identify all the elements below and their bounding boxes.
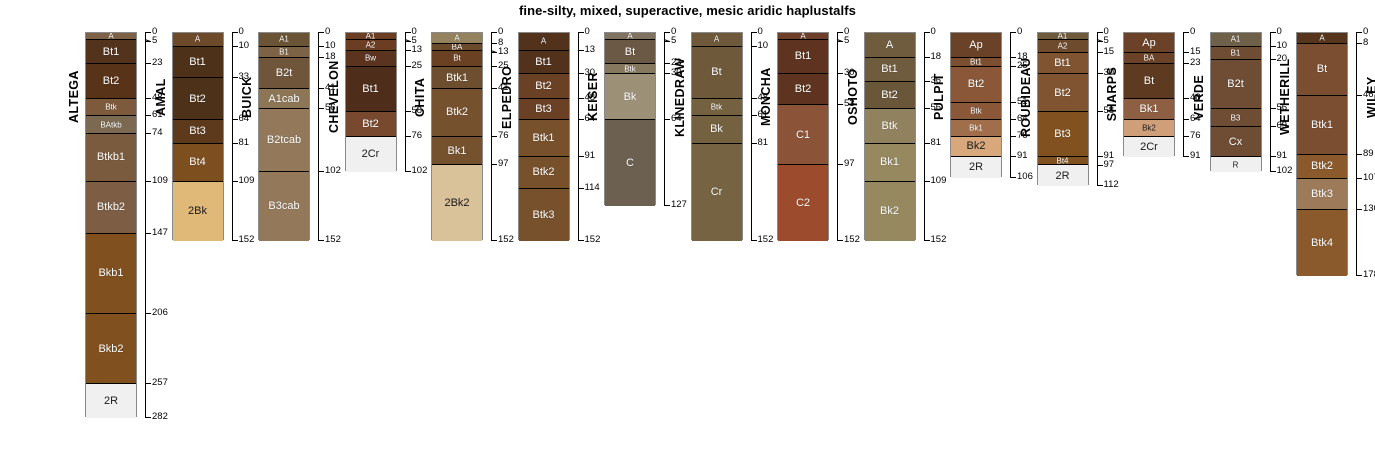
horizon-label: B2tcab xyxy=(259,134,309,146)
depth-tick xyxy=(405,32,411,33)
horizon-label: A xyxy=(86,33,136,40)
depth-tick-label: 257 xyxy=(152,378,168,388)
depth-tick xyxy=(578,50,584,51)
horizon-bk2: Bk2 xyxy=(951,137,1001,157)
depth-tick xyxy=(232,77,238,78)
depth-tick xyxy=(1270,32,1276,33)
profile-name-label: ROUBIDEAU xyxy=(1019,32,1033,162)
depth-tick xyxy=(145,115,151,116)
horizon-label: Bt4 xyxy=(1038,157,1088,165)
horizon-bt2: Bt2 xyxy=(173,78,223,120)
depth-axis xyxy=(837,32,838,240)
depth-axis xyxy=(751,32,752,240)
horizon-label: Bt1 xyxy=(173,56,223,68)
depth-tick-label: 102 xyxy=(1277,166,1293,176)
profile-column: A1A2Bt1Bt2Bt3Bt42R xyxy=(1037,32,1089,185)
depth-tick xyxy=(1270,46,1276,47)
horizon-label: B1 xyxy=(259,47,309,56)
horizon-label: Bt2 xyxy=(1038,87,1088,99)
depth-axis xyxy=(405,32,406,171)
profile-name-label: WETHERILL xyxy=(1278,32,1292,162)
horizon-2cr: 2Cr xyxy=(346,137,396,172)
depth-tick xyxy=(1097,111,1103,112)
horizon-label: Btk1 xyxy=(1297,119,1347,131)
horizon-2bk2: 2Bk2 xyxy=(432,165,482,240)
depth-tick xyxy=(1183,156,1189,157)
horizon-bt1: Bt1 xyxy=(86,40,136,65)
horizon-label: Bk2 xyxy=(865,205,915,217)
depth-tick xyxy=(318,240,324,241)
depth-tick xyxy=(1183,119,1189,120)
horizon-btk1: Btk1 xyxy=(1297,96,1347,155)
horizon-c1: C1 xyxy=(778,105,828,165)
horizon-label: Bk2 xyxy=(1124,124,1174,133)
depth-tick xyxy=(1097,32,1103,33)
horizon-bk2: Bk2 xyxy=(1124,120,1174,136)
depth-tick xyxy=(1097,156,1103,157)
depth-tick-label: 152 xyxy=(585,235,601,245)
horizon-cx: Cx xyxy=(1211,127,1261,157)
horizon-label: Bkb2 xyxy=(86,343,136,355)
horizon-label: Bt xyxy=(1297,63,1347,75)
horizon-label: 2R xyxy=(951,161,1001,173)
horizon-label: A xyxy=(605,33,655,40)
depth-tick-label: 127 xyxy=(671,200,687,210)
horizon-label: 2Cr xyxy=(346,148,396,160)
horizon-b3cab: B3cab xyxy=(259,172,309,240)
depth-tick xyxy=(664,32,670,33)
horizon-bt2: Bt2 xyxy=(778,74,828,105)
depth-tick xyxy=(1356,209,1362,210)
depth-tick xyxy=(491,66,497,67)
horizon-label: A1 xyxy=(1038,33,1088,40)
depth-tick xyxy=(318,171,324,172)
horizon-bt4: Bt4 xyxy=(1038,157,1088,165)
depth-tick-label: 130 xyxy=(1363,204,1375,214)
horizon-label: Bt4 xyxy=(173,156,223,168)
depth-tick xyxy=(318,32,324,33)
horizon-bt1: Bt1 xyxy=(346,67,396,112)
profile-column: ABt1Bt2BtkBk1Bk2 xyxy=(864,32,916,240)
depth-tick xyxy=(924,57,930,58)
depth-tick xyxy=(837,164,843,165)
depth-axis xyxy=(1097,32,1098,185)
horizon-label: Bt2 xyxy=(173,93,223,105)
horizon-label: Bk2 xyxy=(951,140,1001,152)
horizon-label: Bk1 xyxy=(951,124,1001,133)
depth-tick xyxy=(145,133,151,134)
profile-column: ABtBtkBkC xyxy=(604,32,656,205)
depth-tick xyxy=(1183,32,1189,33)
horizon-label: A1 xyxy=(346,33,396,40)
profile-column: ApBABtBk1Bk22Cr xyxy=(1123,32,1175,156)
horizon-bt1: Bt1 xyxy=(865,58,915,83)
profile-column: ABt1Bt2Bt3Btk1Btk2Btk3 xyxy=(518,32,570,240)
horizon-c2: C2 xyxy=(778,165,828,240)
profile-name-label: VERDE xyxy=(1192,32,1206,162)
depth-tick-label: 152 xyxy=(931,235,947,245)
horizon-label: Bt xyxy=(692,66,742,78)
horizon-label: Bk xyxy=(692,123,742,135)
horizon-label: Btk1 xyxy=(519,132,569,144)
horizon-bt1: Bt1 xyxy=(1038,53,1088,73)
soil-profile-plot: ALTEGAABt1Bt2BtkBAtkbBtkb1Btkb2Bkb1Bkb22… xyxy=(0,0,1375,450)
horizon-bt2: Bt2 xyxy=(1038,74,1088,112)
depth-tick xyxy=(751,98,757,99)
horizon-label: Btk3 xyxy=(519,209,569,221)
depth-tick-label: 147 xyxy=(152,228,168,238)
depth-tick-label: 109 xyxy=(239,176,255,186)
horizon-btk1: Btk1 xyxy=(432,67,482,89)
profile-name-label: PULPIT xyxy=(932,32,946,162)
depth-tick-label: 152 xyxy=(758,235,774,245)
depth-tick xyxy=(1183,63,1189,64)
horizon-btk1: Btk1 xyxy=(519,120,569,157)
depth-tick xyxy=(1270,126,1276,127)
horizon-btk2: Btk2 xyxy=(432,89,482,137)
horizon-bk1: Bk1 xyxy=(432,137,482,166)
horizon-label: Bt3 xyxy=(519,103,569,115)
depth-axis xyxy=(232,32,233,240)
horizon-btk2: Btk2 xyxy=(1297,155,1347,180)
depth-tick xyxy=(924,181,930,182)
horizon-bt2: Bt2 xyxy=(865,82,915,109)
horizon-label: Bt3 xyxy=(173,125,223,137)
profile-column: ApBt1Bt2BtkBk1Bk22R xyxy=(950,32,1002,177)
horizon-c: C xyxy=(605,120,655,206)
horizon-bkb1: Bkb1 xyxy=(86,234,136,315)
profile-column: ABABtBtk1Btk2Bk12Bk2 xyxy=(431,32,483,240)
depth-tick-label: 152 xyxy=(239,235,255,245)
horizon-bt: Bt xyxy=(692,47,742,99)
horizon-label: A xyxy=(519,37,569,46)
horizon-label: B3 xyxy=(1211,113,1261,122)
depth-tick xyxy=(924,108,930,109)
horizon-label: Bt2 xyxy=(346,118,396,130)
horizon-a: A xyxy=(432,33,482,44)
horizon-label: Btk1 xyxy=(432,72,482,84)
depth-tick xyxy=(1097,73,1103,74)
horizon-label: Ap xyxy=(951,39,1001,51)
horizon-label: BA xyxy=(1124,54,1174,63)
horizon-label: B3cab xyxy=(259,200,309,212)
depth-axis xyxy=(1183,32,1184,156)
depth-tick-label: 152 xyxy=(325,235,341,245)
depth-tick-label: 178 xyxy=(1363,270,1375,280)
depth-tick xyxy=(837,240,843,241)
depth-tick xyxy=(1010,57,1016,58)
horizon-bt4: Bt4 xyxy=(173,144,223,182)
depth-tick xyxy=(491,32,497,33)
horizon-label: Bkb1 xyxy=(86,267,136,279)
horizon-btk: Btk xyxy=(951,103,1001,121)
horizon-label: Bt3 xyxy=(1038,128,1088,140)
horizon-ap: Ap xyxy=(951,33,1001,58)
profile-name-label: ALTEGA xyxy=(67,32,81,162)
depth-axis xyxy=(145,32,146,417)
profile-name-label: CHEVELON xyxy=(327,32,341,162)
depth-axis xyxy=(578,32,579,240)
horizon-btk: Btk xyxy=(865,109,915,143)
profile-name-label: AMAL xyxy=(154,32,168,162)
horizon-label: Btkb2 xyxy=(86,201,136,213)
horizon-bk1: Bk1 xyxy=(1124,99,1174,121)
horizon-label: Btk xyxy=(865,120,915,132)
horizon-label: Bt2 xyxy=(86,75,136,87)
depth-tick xyxy=(751,240,757,241)
horizon-label: Btk xyxy=(692,102,742,111)
horizon-label: Ap xyxy=(1124,37,1174,49)
depth-tick-label: 109 xyxy=(152,176,168,186)
depth-tick xyxy=(924,143,930,144)
horizon-a: A xyxy=(778,33,828,40)
depth-tick xyxy=(1010,102,1016,103)
depth-tick xyxy=(751,115,757,116)
horizon-a: A xyxy=(86,33,136,40)
horizon-a: A xyxy=(1297,33,1347,44)
horizon-ba: BA xyxy=(432,44,482,51)
horizon-a: A xyxy=(692,33,742,47)
depth-tick xyxy=(664,63,670,64)
horizon-label: Btk xyxy=(951,106,1001,115)
depth-tick xyxy=(405,66,411,67)
horizon-bk1: Bk1 xyxy=(865,144,915,182)
horizon-label: A xyxy=(1297,33,1347,42)
horizon-a2: A2 xyxy=(1038,40,1088,54)
horizon-label: 2Bk2 xyxy=(432,197,482,209)
horizon-label: C xyxy=(605,157,655,169)
profile-name-label: CHITA xyxy=(413,32,427,162)
horizon-r: R xyxy=(1211,157,1261,172)
depth-tick xyxy=(837,73,843,74)
depth-tick xyxy=(1356,178,1362,179)
horizon-btk3: Btk3 xyxy=(519,189,569,241)
horizon-btkb1: Btkb1 xyxy=(86,134,136,182)
horizon-2cr: 2Cr xyxy=(1124,137,1174,157)
depth-tick xyxy=(1270,156,1276,157)
horizon-btk: Btk xyxy=(605,64,655,74)
depth-tick xyxy=(1010,119,1016,120)
depth-tick xyxy=(924,240,930,241)
horizon-label: A xyxy=(692,35,742,44)
depth-tick-label: 107 xyxy=(1363,173,1375,183)
depth-tick xyxy=(1356,154,1362,155)
depth-tick xyxy=(1183,136,1189,137)
horizon-label: Bt2 xyxy=(519,80,569,92)
horizon-label: Btk4 xyxy=(1297,237,1347,249)
depth-tick xyxy=(405,50,411,51)
depth-tick xyxy=(751,46,757,47)
horizon-label: Bt2 xyxy=(865,89,915,101)
horizon-label: Btk xyxy=(605,64,655,73)
depth-tick xyxy=(145,233,151,234)
horizon-label: 2R xyxy=(86,395,136,407)
horizon-label: Bt1 xyxy=(1038,57,1088,69)
horizon-ba: BA xyxy=(1124,53,1174,64)
horizon-label: Btk2 xyxy=(519,166,569,178)
horizon-label: B2t xyxy=(259,67,309,79)
horizon-bt: Bt xyxy=(605,40,655,65)
horizon-bk2: Bk2 xyxy=(865,182,915,241)
depth-tick xyxy=(837,104,843,105)
horizon-label: Bk1 xyxy=(432,145,482,157)
horizon-bt: Bt xyxy=(432,51,482,67)
horizon-label: C2 xyxy=(778,197,828,209)
profile-name-label: SHARPS xyxy=(1105,32,1119,156)
horizon-cr: Cr xyxy=(692,144,742,241)
depth-tick xyxy=(1270,108,1276,109)
depth-tick xyxy=(232,119,238,120)
depth-tick-label: 152 xyxy=(844,235,860,245)
horizon-bt1: Bt1 xyxy=(951,58,1001,68)
horizon-a1: A1 xyxy=(346,33,396,40)
depth-tick xyxy=(232,240,238,241)
horizon-label: Bt1 xyxy=(951,58,1001,67)
depth-tick xyxy=(318,57,324,58)
profile-name-label: MONCHA xyxy=(759,32,773,162)
horizon-label: Btk xyxy=(86,102,136,111)
horizon-a1: A1 xyxy=(1211,33,1261,47)
horizon-label: Cr xyxy=(692,186,742,198)
depth-axis xyxy=(1010,32,1011,177)
depth-tick xyxy=(491,164,497,165)
profile-name-label: ELPEDRO xyxy=(500,32,514,162)
horizon-label: 2Cr xyxy=(1124,141,1174,153)
horizon-label: Bt xyxy=(432,54,482,63)
horizon-label: A xyxy=(865,39,915,51)
horizon-label: Bt2 xyxy=(778,83,828,95)
horizon-2bk: 2Bk xyxy=(173,182,223,241)
horizon-label: Bk1 xyxy=(865,156,915,168)
profile-column: A1B1B2tB3CxR xyxy=(1210,32,1262,171)
horizon-label: Bw xyxy=(346,54,396,63)
horizon-b2t: B2t xyxy=(259,58,309,89)
depth-tick xyxy=(578,240,584,241)
profile-column: A1A2BwBt1Bt22Cr xyxy=(345,32,397,171)
profile-column: ABt1Bt2BtkBAtkbBtkb1Btkb2Bkb1Bkb22R xyxy=(85,32,137,417)
depth-tick xyxy=(318,108,324,109)
depth-tick xyxy=(145,63,151,64)
depth-tick xyxy=(837,32,843,33)
depth-tick xyxy=(491,136,497,137)
profile-name-label: KLINEDRAW xyxy=(673,32,687,162)
horizon-bk: Bk xyxy=(605,74,655,120)
depth-tick-label: 282 xyxy=(152,412,168,422)
depth-tick xyxy=(578,188,584,189)
depth-tick xyxy=(1010,177,1016,178)
horizon-label: Bt xyxy=(605,46,655,58)
horizon-label: B2t xyxy=(1211,78,1261,90)
horizon-bt2: Bt2 xyxy=(519,74,569,99)
horizon-label: Btk2 xyxy=(432,106,482,118)
horizon-label: A xyxy=(432,33,482,42)
depth-tick xyxy=(664,119,670,120)
horizon-b1: B1 xyxy=(1211,47,1261,61)
horizon-label: Bt1 xyxy=(86,46,136,58)
horizon-a: A xyxy=(519,33,569,51)
depth-tick xyxy=(578,119,584,120)
horizon-bt2: Bt2 xyxy=(86,64,136,98)
horizon-bt: Bt xyxy=(1297,44,1347,96)
profile-column: A1B1B2tA1cabB2tcabB3cab xyxy=(258,32,310,240)
horizon-bt1: Bt1 xyxy=(778,40,828,74)
horizon-b3: B3 xyxy=(1211,109,1261,127)
depth-tick-label: 102 xyxy=(325,166,341,176)
horizon-btk4: Btk4 xyxy=(1297,210,1347,276)
depth-tick xyxy=(1097,185,1103,186)
horizon-a1: A1 xyxy=(259,33,309,47)
horizon-btkb2: Btkb2 xyxy=(86,182,136,234)
horizon-bt1: Bt1 xyxy=(519,51,569,74)
horizon-label: Btk3 xyxy=(1297,188,1347,200)
horizon-b2t: B2t xyxy=(1211,60,1261,109)
horizon-label: Bt1 xyxy=(346,83,396,95)
depth-tick-label: 114 xyxy=(585,183,600,193)
depth-tick xyxy=(405,136,411,137)
horizon-bt: Bt xyxy=(1124,64,1174,98)
depth-tick-label: 102 xyxy=(412,166,428,176)
depth-axis xyxy=(318,32,319,240)
depth-tick xyxy=(1356,275,1362,276)
horizon-label: Bt1 xyxy=(519,56,569,68)
profile-column: ABt1Bt2C1C2 xyxy=(777,32,829,240)
depth-tick xyxy=(232,181,238,182)
depth-tick xyxy=(751,32,757,33)
horizon-label: Bt1 xyxy=(778,50,828,62)
horizon-b1: B1 xyxy=(259,47,309,58)
horizon-a: A xyxy=(173,33,223,47)
horizon-bt3: Bt3 xyxy=(173,120,223,143)
depth-tick xyxy=(232,32,238,33)
depth-tick xyxy=(1010,66,1016,67)
depth-tick xyxy=(1270,171,1276,172)
horizon-label: Btkb1 xyxy=(86,151,136,163)
depth-tick xyxy=(578,32,584,33)
depth-tick xyxy=(578,98,584,99)
depth-tick xyxy=(405,111,411,112)
profile-column: ABt1Bt2Bt3Bt42Bk xyxy=(172,32,224,240)
depth-tick xyxy=(1010,156,1016,157)
depth-tick xyxy=(578,156,584,157)
profile-column: ABtBtk1Btk2Btk3Btk4 xyxy=(1296,32,1348,275)
horizon-label: C1 xyxy=(778,129,828,141)
profile-name-label: WILEY xyxy=(1365,32,1375,162)
horizon-2r: 2R xyxy=(86,384,136,418)
horizon-label: R xyxy=(1211,160,1261,169)
depth-tick xyxy=(1270,59,1276,60)
horizon-btk: Btk xyxy=(692,99,742,117)
depth-tick xyxy=(491,240,497,241)
horizon-batkb: BAtkb xyxy=(86,116,136,134)
depth-tick xyxy=(1356,43,1362,44)
horizon-label: Bk xyxy=(605,91,655,103)
depth-tick xyxy=(232,143,238,144)
depth-tick xyxy=(1183,52,1189,53)
profile-column: ABtBtkBkCr xyxy=(691,32,743,240)
horizon-a1cab: A1cab xyxy=(259,89,309,109)
depth-tick xyxy=(578,73,584,74)
horizon-2r: 2R xyxy=(1038,165,1088,185)
horizon-bt3: Bt3 xyxy=(519,99,569,121)
depth-tick xyxy=(145,313,151,314)
horizon-label: A1cab xyxy=(259,93,309,105)
horizon-bt2: Bt2 xyxy=(346,112,396,137)
horizon-label: A1 xyxy=(1211,35,1261,44)
depth-tick-label: 109 xyxy=(931,176,947,186)
depth-tick-label: 112 xyxy=(1104,180,1119,190)
horizon-bkb2: Bkb2 xyxy=(86,314,136,384)
horizon-a1: A1 xyxy=(1038,33,1088,40)
